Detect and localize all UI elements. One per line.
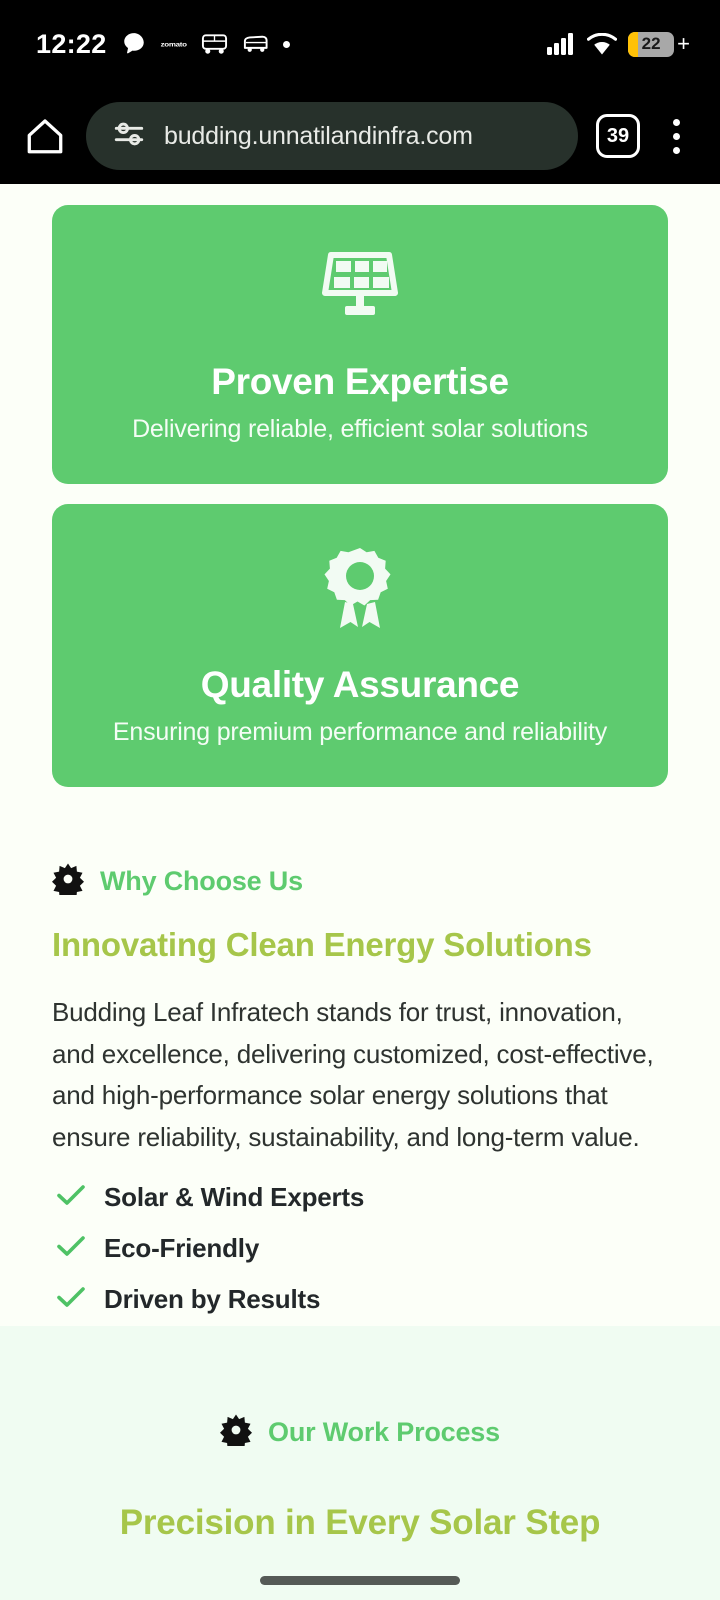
check-icon [56,1285,86,1314]
tune-icon[interactable] [112,117,146,156]
list-item: Solar & Wind Experts [52,1172,668,1223]
more-vertical-icon[interactable] [654,109,698,163]
feature-card-quality-assurance[interactable]: Quality Assurance Ensuring premium perfo… [52,504,668,787]
battery-fill [628,32,638,57]
feature-card-title: Quality Assurance [76,664,644,706]
battery-indicator: 22 + [628,32,690,57]
work-process-section: Our Work Process Precision in Every Sola… [0,1326,720,1600]
bus-icon [201,33,228,55]
menu-dot [673,147,680,154]
bus-alt-icon [242,34,269,54]
menu-dot [673,119,680,126]
work-process-heading: Precision in Every Solar Step [0,1503,720,1543]
sun-icon [52,863,84,900]
checklist-label: Solar & Wind Experts [104,1182,364,1213]
browser-toolbar: budding.unnatilandinfra.com 39 [0,88,720,184]
why-choose-us-eyebrow-label: Why Choose Us [100,866,303,897]
why-choose-us-heading: Innovating Clean Energy Solutions [52,926,668,964]
tab-count-label: 39 [607,126,629,146]
feature-card-subtitle: Delivering reliable, efficient solar sol… [76,415,644,444]
url-bar[interactable]: budding.unnatilandinfra.com [86,102,578,170]
solar-panel-icon [76,247,644,327]
checklist-label: Eco-Friendly [104,1233,259,1264]
checklist-label: Driven by Results [104,1284,320,1315]
feature-card-title: Proven Expertise [76,361,644,403]
status-clock: 12:22 [36,29,107,60]
feature-card-proven-expertise[interactable]: Proven Expertise Delivering reliable, ef… [52,205,668,484]
list-item: Eco-Friendly [52,1223,668,1274]
check-icon [56,1234,86,1263]
app-badge-logo: zomato [161,40,187,48]
status-bar-left: 12:22 zomato [36,29,290,60]
home-icon[interactable] [18,109,72,163]
battery-plus-label: + [677,33,690,55]
gesture-pill[interactable] [260,1576,460,1585]
award-ribbon-icon [76,546,644,630]
feature-card-subtitle: Ensuring premium performance and reliabi… [76,718,644,747]
menu-dot [673,133,680,140]
check-icon [56,1183,86,1212]
why-choose-us-eyebrow: Why Choose Us [52,863,668,900]
feature-card-list: Proven Expertise Delivering reliable, ef… [0,184,720,787]
url-text[interactable]: budding.unnatilandinfra.com [164,122,473,151]
dot-icon [283,41,290,48]
chat-bubble-icon [121,31,147,57]
battery-level-label: 22 [642,34,661,54]
battery-icon: 22 [628,32,674,57]
status-bar: 12:22 zomato [0,0,720,88]
why-choose-us-section: Why Choose Us Innovating Clean Energy So… [0,807,720,1376]
work-process-eyebrow: Our Work Process [0,1414,720,1451]
list-item: Driven by Results [52,1274,668,1325]
sun-icon [220,1414,252,1451]
wifi-icon [587,33,617,56]
work-process-eyebrow-label: Our Work Process [268,1417,500,1448]
web-page-content: Proven Expertise Delivering reliable, ef… [0,184,720,1600]
why-choose-us-paragraph: Budding Leaf Infratech stands for trust,… [52,992,668,1158]
status-bar-right: 22 + [546,32,690,57]
cellular-signal-icon [546,32,576,56]
tab-switcher-button[interactable]: 39 [596,114,640,158]
